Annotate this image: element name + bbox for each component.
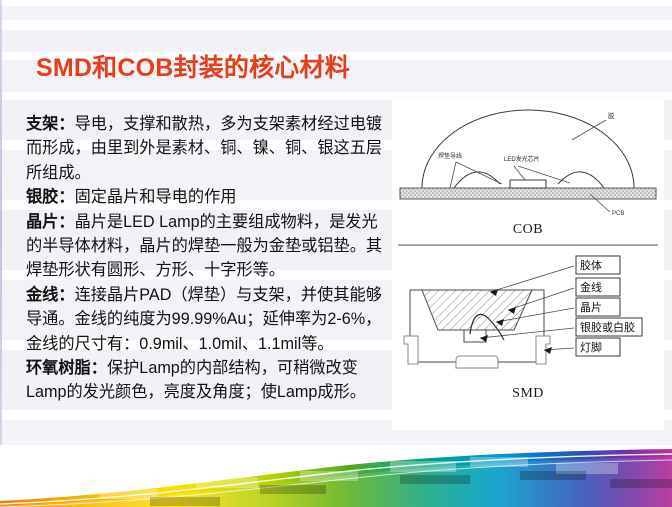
term-epoxy: 环氧树脂： [26, 359, 107, 377]
left-accent-rule [0, 0, 2, 452]
cob-label-pcb: PCB [612, 211, 624, 217]
smd-diagram: 胶体 金线 晶片 银胶或白胶 灯脚 [392, 252, 664, 382]
cob-label-bond-wire: 焊垫导线 [438, 152, 462, 160]
figure-divider [398, 244, 658, 246]
page-title: SMD和COB封装的核心材料 [36, 48, 456, 84]
desc-silver-glue: 固定晶片和导电的作用 [75, 188, 237, 206]
body-text-block: 支架：导电，支撑和散热，多为支架素材经过电镀而形成，由里到外是素材、铜、镍、铜、… [26, 112, 386, 405]
term-chip: 晶片： [26, 213, 75, 231]
paragraph-epoxy: 环氧树脂：保护Lamp的内部结构，可稍微改变Lamp的发光颜色，亮度及角度；使L… [26, 356, 386, 405]
smd-caption: SMD [392, 386, 664, 402]
cob-diagram-svg: 焊垫导线 LED发光芯片 胶 PCB [392, 100, 664, 220]
cob-diagram: 焊垫导线 LED发光芯片 胶 PCB [392, 100, 664, 220]
decorative-wave-graphic [0, 445, 672, 507]
paragraph-silver-glue: 银胶：固定晶片和导电的作用 [26, 185, 386, 209]
desc-gold-wire: 连接晶片PAD（焊垫）与支架，并使其能够导通。金线的纯度为99.99%Au；延伸… [26, 286, 382, 353]
paragraph-gold-wire: 金线：连接晶片PAD（焊垫）与支架，并使其能够导通。金线的纯度为99.99%Au… [26, 283, 386, 356]
cob-label-glue: 胶 [608, 111, 615, 120]
figure-column: 焊垫导线 LED发光芯片 胶 PCB COB [392, 100, 664, 430]
paragraph-bracket: 支架：导电，支撑和散热，多为支架素材经过电镀而形成，由里到外是素材、铜、镍、铜、… [26, 112, 386, 185]
smd-label-lamp-foot: 灯脚 [580, 340, 602, 354]
term-gold-wire: 金线： [26, 286, 75, 304]
slide-canvas: SMD和COB封装的核心材料 支架：导电，支撑和散热，多为支架素材经过电镀而形成… [0, 0, 672, 507]
smd-label-silver-glue: 银胶或白胶 [580, 320, 635, 334]
term-bracket: 支架： [26, 115, 75, 133]
smd-label-gold-wire: 金线 [580, 280, 602, 294]
cob-label-chip: LED发光芯片 [504, 155, 540, 163]
desc-bracket: 导电，支撑和散热，多为支架素材经过电镀而形成，由里到外是素材、铜、镍、铜、银这五… [26, 115, 382, 182]
smd-label-chip: 晶片 [580, 301, 602, 314]
paragraph-chip: 晶片：晶片是LED Lamp的主要组成物料，是发光的半导体材料，晶片的焊垫一般为… [26, 210, 386, 283]
smd-diagram-svg: 胶体 金线 晶片 银胶或白胶 灯脚 [392, 252, 664, 382]
desc-chip: 晶片是LED Lamp的主要组成物料，是发光的半导体材料，晶片的焊垫一般为金垫或… [26, 213, 382, 280]
smd-label-encapsulant: 胶体 [580, 258, 602, 272]
cob-caption: COB [392, 222, 664, 238]
term-silver-glue: 银胶： [26, 188, 75, 206]
